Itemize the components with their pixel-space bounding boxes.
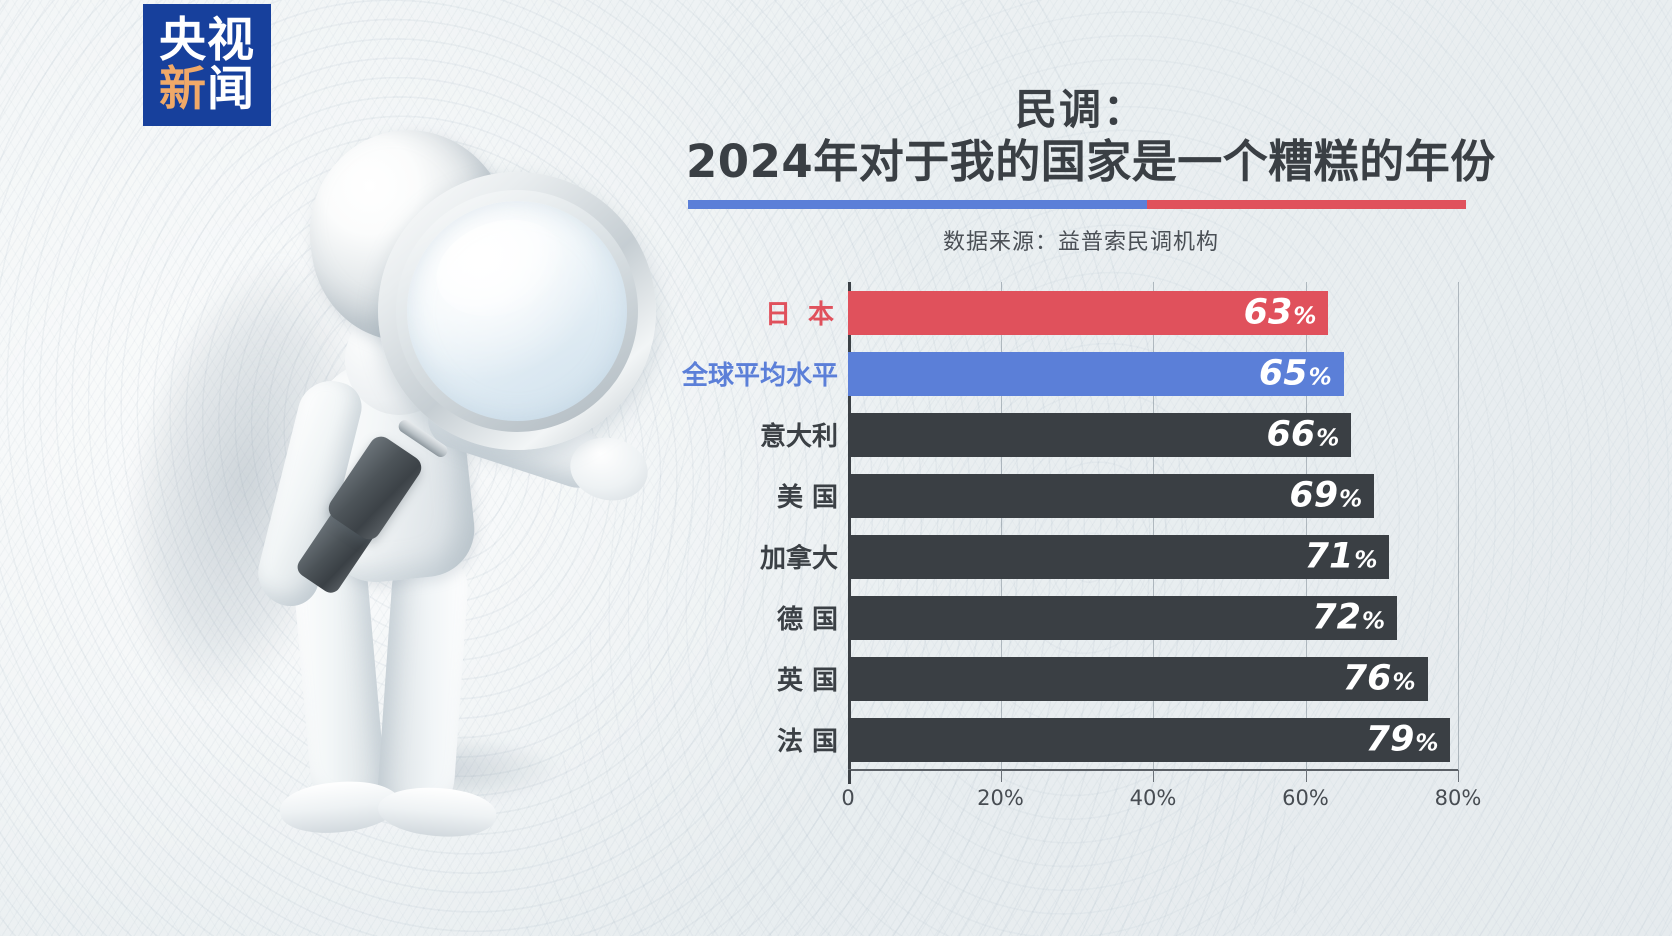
bar-value-label: 66%: [1266, 417, 1339, 452]
title-line-1: 民调：: [686, 88, 1476, 133]
bar-value-label: 69%: [1289, 478, 1362, 513]
category-axis: 日 本全球平均水平意大利美 国加拿大德 国英 国法 国: [676, 282, 848, 770]
bar-row: 72%: [848, 596, 1458, 640]
gridline: [1458, 282, 1459, 770]
bar: 71%: [848, 535, 1389, 579]
content-panel: 民调： 2024年对于我的国家是一个糟糕的年份 数据来源：益普索民调机构 日 本…: [676, 0, 1672, 936]
magnifier-figure-illustration: [250, 110, 670, 830]
axis-tick-label: 80%: [1435, 786, 1482, 810]
bar: 65%: [848, 352, 1344, 396]
bar: 63%: [848, 291, 1328, 335]
logo-line-yangshi: 央视: [159, 18, 255, 63]
axis-tick-label: 40%: [1130, 786, 1177, 810]
title-underline: [688, 200, 1466, 209]
category-label: 意大利: [760, 413, 838, 457]
axis-tick: [1306, 770, 1307, 782]
plot-area: 020%40%60%80%63%65%66%69%71%72%76%79%: [848, 282, 1458, 770]
cctv-news-logo: 央视 新 闻: [143, 4, 271, 126]
data-source-label: 数据来源：益普索民调机构: [686, 224, 1476, 256]
bar-value-label: 76%: [1343, 661, 1416, 696]
bar-row: 76%: [848, 657, 1458, 701]
bar-row: 66%: [848, 413, 1458, 457]
bar: 69%: [848, 474, 1374, 518]
bar-value-label: 72%: [1312, 600, 1385, 635]
category-label: 加拿大: [760, 535, 838, 579]
underline-segment-red: [1147, 200, 1466, 209]
bar-row: 65%: [848, 352, 1458, 396]
category-label: 全球平均水平: [682, 352, 838, 396]
category-label: 德 国: [777, 596, 838, 640]
bar-chart: 日 本全球平均水平意大利美 国加拿大德 国英 国法 国 020%40%60%80…: [676, 282, 1476, 842]
axis-tick: [1153, 770, 1154, 782]
underline-segment-blue: [688, 200, 1147, 209]
axis-tick-label: 60%: [1282, 786, 1329, 810]
bar-value-label: 65%: [1259, 356, 1332, 391]
bar: 66%: [848, 413, 1351, 457]
bar-row: 69%: [848, 474, 1458, 518]
axis-tick: [1001, 770, 1002, 782]
logo-char-xin: 新: [159, 67, 207, 112]
bar-row: 63%: [848, 291, 1458, 335]
category-label: 英 国: [777, 657, 838, 701]
category-label: 美 国: [777, 474, 838, 518]
title-line-2: 2024年对于我的国家是一个糟糕的年份: [686, 135, 1476, 188]
axis-tick: [848, 770, 851, 784]
bar-value-label: 71%: [1305, 539, 1378, 574]
page-title: 民调： 2024年对于我的国家是一个糟糕的年份: [686, 88, 1476, 188]
bar: 79%: [848, 718, 1450, 762]
bar-value-label: 79%: [1366, 722, 1439, 757]
bar: 72%: [848, 596, 1397, 640]
axis-tick-label: 20%: [977, 786, 1024, 810]
logo-char-wen: 闻: [207, 67, 255, 112]
bar-value-label: 63%: [1244, 295, 1317, 330]
infographic-canvas: 央视 新 闻 民调： 2024年对于我的国家是一个糟糕的年份: [0, 0, 1672, 936]
bar: 76%: [848, 657, 1428, 701]
axis-tick: [1458, 770, 1459, 782]
category-label: 法 国: [777, 718, 838, 762]
bar-row: 71%: [848, 535, 1458, 579]
category-label: 日 本: [765, 291, 838, 335]
bar-row: 79%: [848, 718, 1458, 762]
axis-tick-label: 0: [841, 786, 854, 810]
